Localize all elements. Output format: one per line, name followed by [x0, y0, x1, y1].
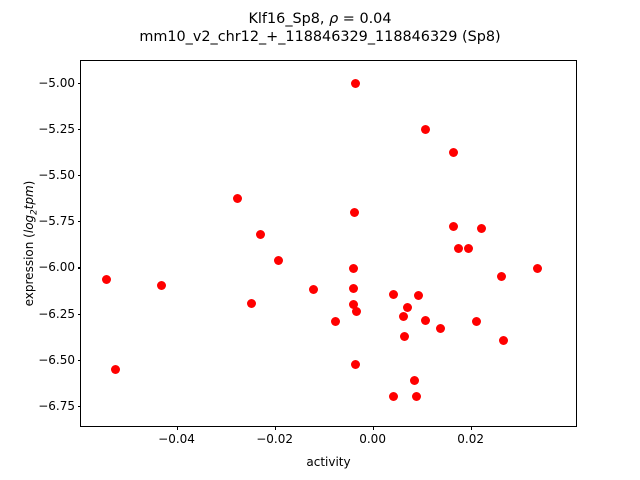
matplotlib-figure: Klf16_Sp8, ρ = 0.04 mm10_v2_chr12_+_1188… — [0, 0, 640, 480]
scatter-point — [400, 332, 409, 341]
scatter-point — [351, 360, 360, 369]
scatter-point — [454, 244, 463, 253]
x-axis-tick — [177, 426, 178, 430]
y-axis-tick-label: −5.50 — [38, 168, 75, 182]
scatter-point — [247, 299, 256, 308]
scatter-point — [351, 79, 360, 88]
y-axis-label: expression (log2tpm) — [22, 60, 42, 427]
scatter-point — [352, 307, 361, 316]
scatter-point — [477, 224, 486, 233]
y-axis-tick — [78, 83, 82, 84]
y-axis-tick — [78, 360, 82, 361]
chart-title-block: Klf16_Sp8, ρ = 0.04 mm10_v2_chr12_+_1188… — [0, 10, 640, 46]
y-axis-tick — [78, 221, 82, 222]
x-axis-tick — [275, 426, 276, 430]
x-axis-label: activity — [80, 455, 577, 469]
scatter-point — [102, 275, 111, 284]
x-axis-tick-label: −0.04 — [158, 432, 195, 446]
scatter-point — [472, 317, 481, 326]
x-axis-tick-label: −0.02 — [256, 432, 293, 446]
y-axis-tick-label: −5.25 — [38, 122, 75, 136]
y-axis-tick-label: −6.00 — [38, 260, 75, 274]
scatter-point — [499, 336, 508, 345]
scatter-point — [157, 281, 166, 290]
y-axis-tick-label: −5.75 — [38, 214, 75, 228]
x-axis-tick — [373, 426, 374, 430]
scatter-point — [399, 312, 408, 321]
y-axis-tick — [78, 267, 82, 268]
scatter-point — [421, 125, 430, 134]
x-axis-tick — [471, 426, 472, 430]
scatter-point — [256, 230, 265, 239]
scatter-point — [233, 194, 242, 203]
scatter-point — [274, 256, 283, 265]
scatter-point — [331, 317, 340, 326]
y-axis-tick — [78, 175, 82, 176]
y-axis-tick-label: −5.00 — [38, 76, 75, 90]
x-axis-tick-label: 0.02 — [457, 432, 484, 446]
scatter-point — [464, 244, 473, 253]
scatter-point — [349, 264, 358, 273]
x-axis-tick-label: 0.00 — [359, 432, 386, 446]
chart-title-line-2: mm10_v2_chr12_+_118846329_118846329 (Sp8… — [0, 28, 640, 46]
scatter-point — [533, 264, 542, 273]
scatter-point — [389, 392, 398, 401]
scatter-point — [497, 272, 506, 281]
y-axis-tick-label: −6.75 — [38, 399, 75, 413]
y-axis-tick — [78, 406, 82, 407]
scatter-point — [389, 290, 398, 299]
scatter-point — [350, 208, 359, 217]
y-axis-tick-label: −6.25 — [38, 307, 75, 321]
scatter-point — [309, 285, 318, 294]
scatter-point — [403, 303, 412, 312]
scatter-point — [449, 222, 458, 231]
scatter-point — [449, 148, 458, 157]
y-axis-tick — [78, 314, 82, 315]
scatter-point — [436, 324, 445, 333]
scatter-point — [414, 291, 423, 300]
plot-axes-frame: −0.04−0.020.000.02−5.00−5.25−5.50−5.75−6… — [80, 60, 577, 427]
scatter-point — [349, 284, 358, 293]
y-axis-tick-label: −6.50 — [38, 353, 75, 367]
scatter-point — [410, 376, 419, 385]
scatter-plot-area — [81, 61, 576, 426]
chart-title-line-1: Klf16_Sp8, ρ = 0.04 — [0, 10, 640, 28]
scatter-point — [421, 316, 430, 325]
scatter-point — [412, 392, 421, 401]
y-axis-tick — [78, 129, 82, 130]
scatter-point — [111, 365, 120, 374]
